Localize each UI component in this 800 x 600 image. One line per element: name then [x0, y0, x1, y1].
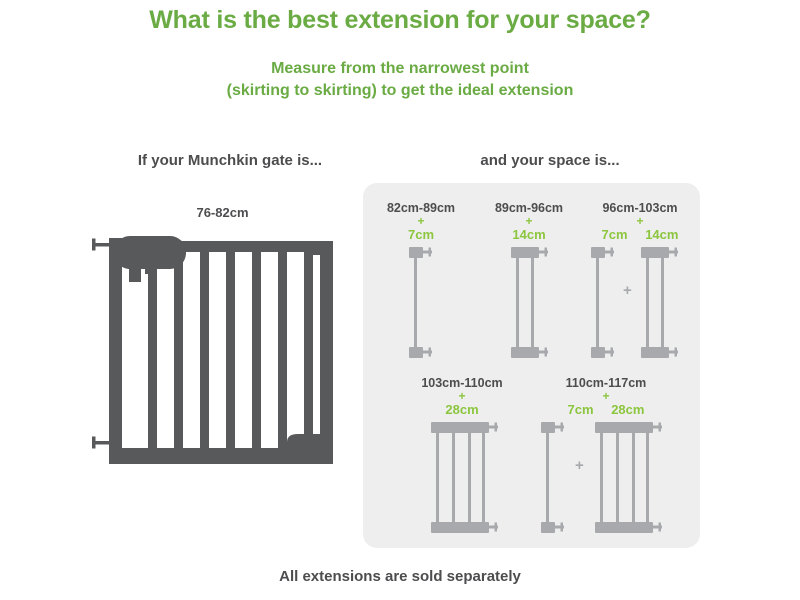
combine-plus-symbol: +: [575, 458, 584, 473]
option-sizes-label: 7cm: [367, 227, 475, 243]
option-plus-symbol: +: [583, 216, 697, 227]
extension-28cm-icon: [431, 422, 499, 534]
option-plus-symbol: +: [531, 391, 681, 402]
extension-7cm-icon: [409, 247, 433, 359]
extension-graphics: [367, 243, 475, 359]
option-96-103[interactable]: 96cm-103cm + 7cm 14cm: [583, 201, 697, 359]
space-options-panel: 82cm-89cm + 7cm: [363, 183, 700, 548]
extension-14cm-icon: [641, 247, 679, 359]
option-sizes-label: 7cm 14cm: [583, 227, 697, 243]
footer-note: All extensions are sold separately: [0, 568, 800, 585]
option-plus-symbol: +: [367, 216, 475, 227]
extension-size-label: 7cm: [602, 227, 628, 243]
extension-size-label: 7cm: [568, 402, 594, 418]
left-column-heading: If your Munchkin gate is...: [60, 152, 400, 169]
safety-gate-icon: [88, 236, 340, 478]
extension-size-label: 28cm: [445, 402, 478, 418]
right-column-heading: and your space is...: [400, 152, 700, 169]
option-89-96[interactable]: 89cm-96cm + 14cm: [475, 201, 583, 359]
extension-size-label: 28cm: [611, 402, 644, 418]
extension-size-label: 14cm: [645, 227, 678, 243]
combine-plus-symbol: +: [623, 283, 632, 298]
subtitle-line-2: (skirting to skirting) to get the ideal …: [0, 80, 800, 102]
extension-graphics: +: [531, 418, 681, 534]
extension-graphics: [397, 418, 527, 534]
extension-7cm-icon: [591, 247, 615, 359]
extension-7cm-icon: [541, 422, 565, 534]
option-plus-symbol: +: [397, 391, 527, 402]
option-103-110[interactable]: 103cm-110cm + 28cm: [397, 376, 527, 534]
extension-size-label: 7cm: [408, 227, 434, 243]
option-sizes-label: 28cm: [397, 402, 527, 418]
option-sizes-label: 7cm 28cm: [531, 402, 681, 418]
option-plus-symbol: +: [475, 216, 583, 227]
extension-size-label: 14cm: [512, 227, 545, 243]
option-sizes-label: 14cm: [475, 227, 583, 243]
subtitle-line-1: Measure from the narrowest point: [0, 58, 800, 80]
extension-14cm-icon: [511, 247, 549, 359]
extension-graphics: +: [583, 243, 697, 359]
option-82-89[interactable]: 82cm-89cm + 7cm: [367, 201, 475, 359]
infographic-page: What is the best extension for your spac…: [0, 0, 800, 600]
page-title: What is the best extension for your spac…: [0, 6, 800, 35]
gate-size-label: 76-82cm: [110, 205, 335, 220]
extension-28cm-icon: [595, 422, 663, 534]
option-110-117[interactable]: 110cm-117cm + 7cm 28cm: [531, 376, 681, 534]
extension-graphics: [475, 243, 583, 359]
page-subtitle: Measure from the narrowest point (skirti…: [0, 58, 800, 102]
safety-gate-illustration: [88, 236, 340, 478]
